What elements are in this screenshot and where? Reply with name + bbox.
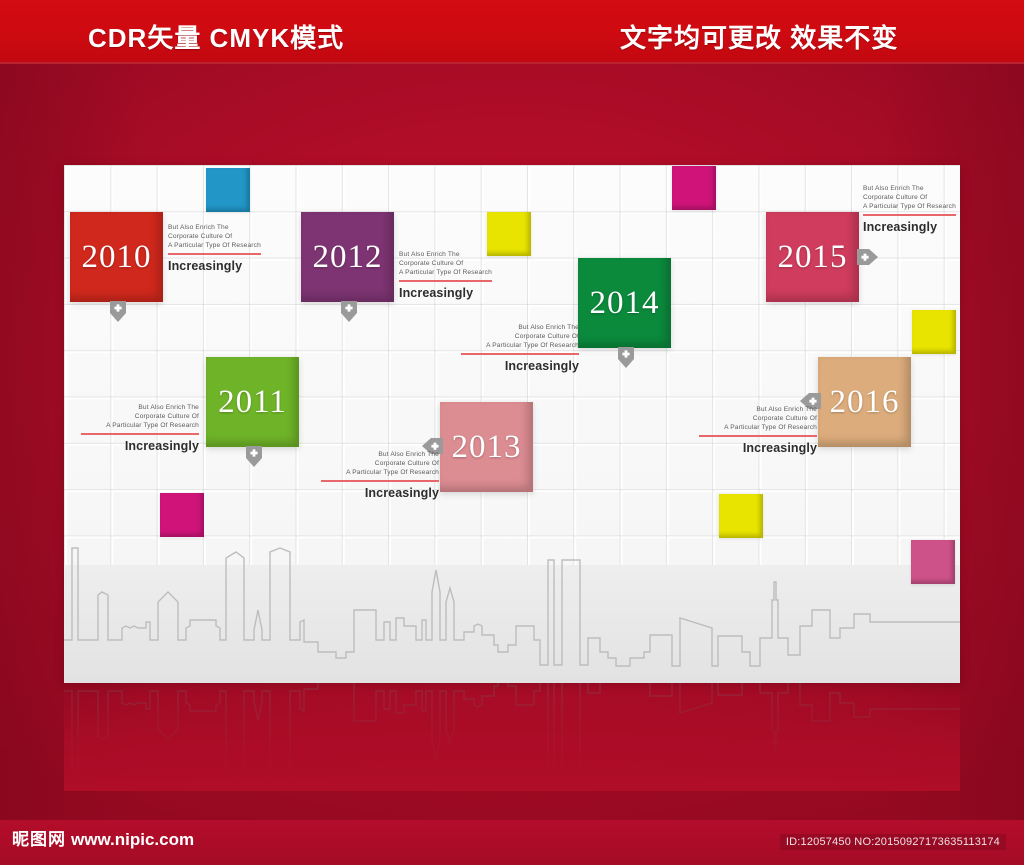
callout-line-2: Corporate Culture Of — [617, 414, 817, 423]
callout-line-3: A Particular Type Of Research — [64, 421, 199, 430]
callout-line-1: But Also Enrich The — [239, 450, 439, 459]
year-label: 2013 — [452, 429, 522, 466]
callout-line-2: Corporate Culture Of — [863, 193, 956, 202]
year-label: 2012 — [313, 239, 383, 276]
callout-headline: Increasingly — [617, 441, 817, 455]
callout-line-1: But Also Enrich The — [863, 184, 956, 193]
callout-line-3: A Particular Type Of Research — [168, 241, 261, 250]
callout-line-3: A Particular Type Of Research — [239, 468, 439, 477]
callout-2014: But Also Enrich The Corporate Culture Of… — [379, 323, 579, 373]
year-label: 2015 — [778, 239, 848, 276]
callout-headline: Increasingly — [399, 286, 492, 300]
year-tile-2016[interactable]: 2016 — [818, 357, 911, 447]
callout-line-2: Corporate Culture Of — [379, 332, 579, 341]
year-tile-2013[interactable]: 2013 — [440, 402, 533, 492]
year-label: 2010 — [82, 239, 152, 276]
callout-line-1: But Also Enrich The — [168, 223, 261, 232]
year-label: 2014 — [590, 285, 660, 322]
marker-pin-2015 — [857, 247, 879, 267]
callout-line-2: Corporate Culture Of — [64, 412, 199, 421]
marker-pin-2012 — [339, 301, 359, 323]
callout-line-2: Corporate Culture Of — [168, 232, 261, 241]
callout-rule — [321, 480, 439, 482]
callout-headline: Increasingly — [168, 259, 261, 273]
year-tile-2015[interactable]: 2015 — [766, 212, 859, 302]
deco-square-magenta-1 — [672, 166, 716, 210]
callout-rule — [399, 280, 492, 282]
deco-square-magenta-2 — [160, 493, 204, 537]
city-skyline — [64, 540, 960, 683]
callout-line-3: A Particular Type Of Research — [617, 423, 817, 432]
deco-square-yellow-1 — [487, 212, 531, 256]
callout-rule — [81, 433, 199, 435]
callout-2012: But Also Enrich The Corporate Culture Of… — [399, 250, 492, 300]
footer-logo-cn: 昵图网 — [12, 831, 66, 848]
callout-rule — [461, 353, 579, 355]
callout-headline: Increasingly — [239, 486, 439, 500]
deco-square-yellow-2 — [912, 310, 956, 354]
timeline-panel: 2010 But Also Enrich The Corporate Cultu… — [64, 165, 960, 683]
top-banner: CDR矢量 CMYK模式 文字均可更改 效果不变 — [0, 0, 1024, 64]
callout-headline: Increasingly — [64, 439, 199, 453]
callout-line-1: But Also Enrich The — [64, 403, 199, 412]
callout-line-1: But Also Enrich The — [617, 405, 817, 414]
banner-left-text: CDR矢量 CMYK模式 — [88, 18, 344, 55]
footer-logo[interactable]: 昵图网 www.nipic.com — [12, 831, 194, 848]
callout-headline: Increasingly — [379, 359, 579, 373]
year-tile-2010[interactable]: 2010 — [70, 212, 163, 302]
callout-line-1: But Also Enrich The — [379, 323, 579, 332]
callout-line-3: A Particular Type Of Research — [379, 341, 579, 350]
callout-rule — [699, 435, 817, 437]
callout-line-2: Corporate Culture Of — [239, 459, 439, 468]
callout-2010: But Also Enrich The Corporate Culture Of… — [168, 223, 261, 273]
callout-2016: But Also Enrich The Corporate Culture Of… — [617, 405, 817, 455]
callout-2011: But Also Enrich The Corporate Culture Of… — [64, 403, 199, 453]
year-tile-2014[interactable]: 2014 — [578, 258, 671, 348]
callout-line-3: A Particular Type Of Research — [399, 268, 492, 277]
year-tile-2012[interactable]: 2012 — [301, 212, 394, 302]
deco-square-blue — [206, 168, 250, 212]
year-label: 2011 — [218, 384, 287, 421]
deco-square-yellow-3 — [719, 494, 763, 538]
callout-headline: Increasingly — [863, 220, 956, 234]
callout-rule — [168, 253, 261, 255]
callout-rule — [863, 214, 956, 216]
site-footer: 昵图网 www.nipic.com ID:12057450 NO:2015092… — [0, 820, 1024, 865]
callout-2013: But Also Enrich The Corporate Culture Of… — [239, 450, 439, 500]
callout-line-1: But Also Enrich The — [399, 250, 492, 259]
year-tile-2011[interactable]: 2011 — [206, 357, 299, 447]
callout-2015: But Also Enrich The Corporate Culture Of… — [863, 184, 956, 234]
marker-pin-2014 — [616, 347, 636, 369]
year-label: 2016 — [830, 384, 900, 421]
footer-id-text: ID:12057450 NO:20150927173635113174 — [780, 834, 1006, 850]
deco-square-pink — [911, 540, 955, 584]
marker-pin-2010 — [108, 301, 128, 323]
callout-line-2: Corporate Culture Of — [399, 259, 492, 268]
banner-right-text: 文字均可更改 效果不变 — [620, 18, 898, 55]
callout-line-3: A Particular Type Of Research — [863, 202, 956, 211]
footer-logo-url: www.nipic.com — [71, 831, 194, 848]
